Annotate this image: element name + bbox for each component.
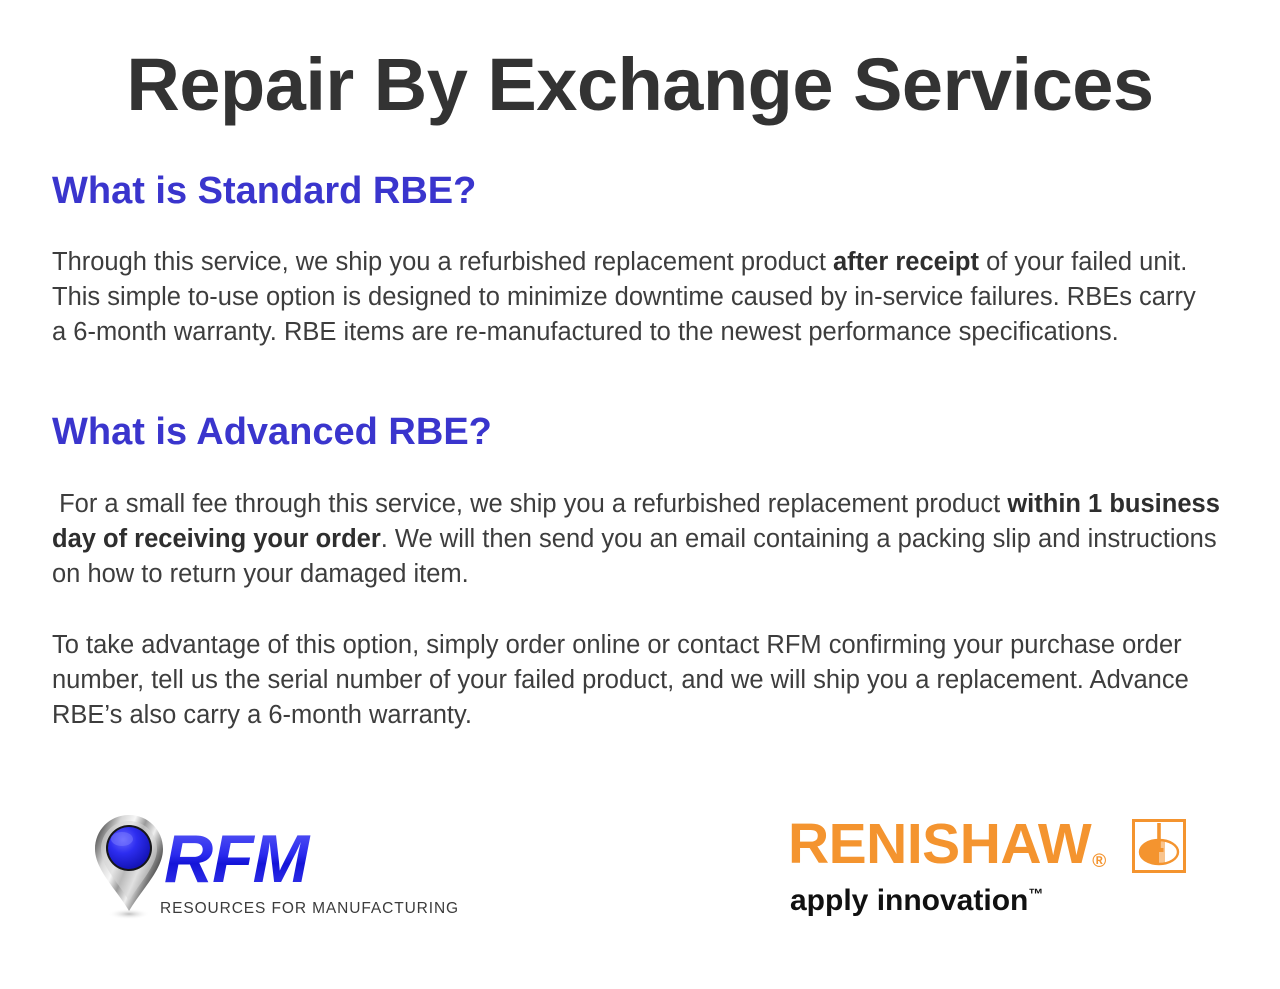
rfm-wordmark: RFM	[164, 824, 382, 896]
renishaw-wordmark: RENISHAW®	[788, 814, 1105, 888]
map-pin-icon	[92, 814, 166, 920]
paragraph-advanced-rbe-body: For a small fee through this service, we…	[52, 487, 1232, 592]
slide-canvas: Repair By Exchange Services What is Stan…	[0, 0, 1280, 989]
body-text: For a small fee through this service, we…	[52, 490, 1007, 518]
renishaw-logo: RENISHAW® apply innovation™	[788, 814, 1188, 924]
section-heading-advanced-rbe: What is Advanced RBE?	[52, 411, 1242, 455]
rfm-logo: RFM RESOURCES FOR MANUFACTURING	[92, 814, 382, 932]
registered-trademark-icon: ®	[1092, 851, 1106, 872]
renishaw-tagline-text: apply innovation	[790, 884, 1028, 917]
trademark-icon: ™	[1028, 886, 1043, 903]
rfm-tagline: RESOURCES FOR MANUFACTURING	[160, 900, 388, 918]
paragraph-standard-rbe-body: Through this service, we ship you a refu…	[52, 245, 1212, 350]
page-title: Repair By Exchange Services	[0, 46, 1280, 124]
renishaw-probe-icon	[1132, 819, 1186, 873]
body-text: To take advantage of this option, simply…	[52, 631, 1196, 729]
body-text: Through this service, we ship you a refu…	[52, 248, 833, 276]
emphasis-text: after receipt	[833, 248, 979, 276]
paragraph-advanced-rbe-ordering: To take advantage of this option, simply…	[52, 628, 1242, 733]
renishaw-wordmark-text: RENISHAW	[788, 812, 1091, 876]
content-column: What is Standard RBE? Through this servi…	[52, 170, 1242, 733]
section-heading-standard-rbe: What is Standard RBE?	[52, 170, 1242, 214]
logo-row: RFM RESOURCES FOR MANUFACTURING RENISHAW…	[0, 800, 1280, 940]
renishaw-tagline: apply innovation™	[790, 878, 1043, 918]
